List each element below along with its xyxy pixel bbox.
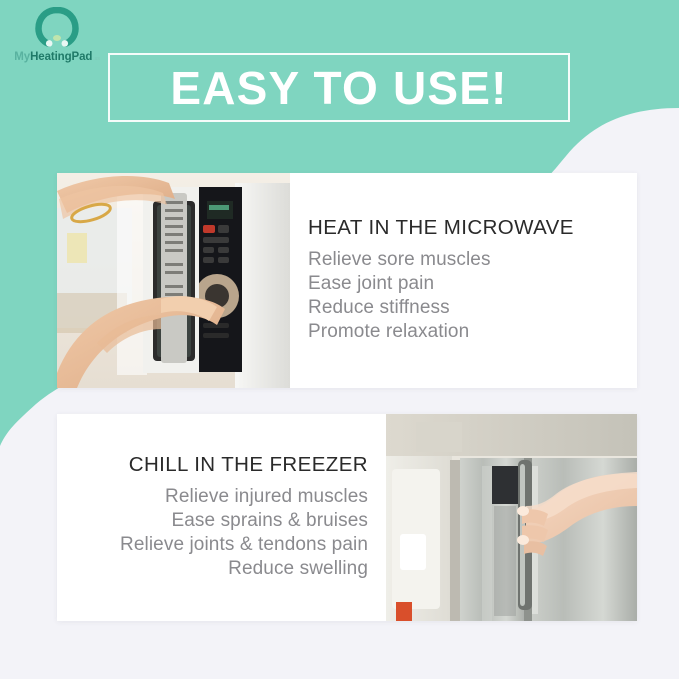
heat-card-body: HEAT IN THE MICROWAVE Relieve sore muscl… bbox=[290, 173, 637, 388]
list-item: Reduce swelling bbox=[120, 558, 368, 581]
heat-card-benefit-list: Relieve sore muscles Ease joint pain Red… bbox=[308, 248, 491, 344]
list-item: Promote relaxation bbox=[308, 321, 491, 344]
list-item: Relieve sore muscles bbox=[308, 249, 491, 272]
list-item: Ease joint pain bbox=[308, 273, 491, 296]
brand-suffix: .us bbox=[93, 56, 99, 62]
chill-card: CHILL IN THE FREEZER Relieve injured mus… bbox=[57, 414, 637, 621]
headline-banner: EASY TO USE! bbox=[108, 53, 570, 122]
heat-card: HEAT IN THE MICROWAVE Relieve sore muscl… bbox=[57, 173, 637, 388]
chill-card-heading: CHILL IN THE FREEZER bbox=[129, 454, 368, 477]
chill-card-body: CHILL IN THE FREEZER Relieve injured mus… bbox=[57, 414, 386, 621]
list-item: Reduce stiffness bbox=[308, 297, 491, 320]
list-item: Relieve joints & tendons pain bbox=[120, 534, 368, 557]
brand-name-part1: My bbox=[14, 51, 30, 63]
freezer-photo bbox=[386, 414, 637, 621]
brand-name-part2: Heating bbox=[30, 51, 71, 63]
infographic-canvas: MyHeatingPad.us EASY TO USE! bbox=[0, 0, 679, 679]
brand-logo[interactable]: MyHeatingPad.us bbox=[8, 6, 106, 68]
headline-title: EASY TO USE! bbox=[170, 65, 507, 111]
brand-name-part3: Pad bbox=[72, 51, 93, 63]
heat-card-heading: HEAT IN THE MICROWAVE bbox=[308, 217, 574, 240]
chill-card-benefit-list: Relieve injured muscles Ease sprains & b… bbox=[120, 485, 368, 581]
list-item: Relieve injured muscles bbox=[120, 486, 368, 509]
microwave-photo bbox=[57, 173, 290, 388]
list-item: Ease sprains & bruises bbox=[120, 510, 368, 533]
horseshoe-ring-icon bbox=[35, 7, 79, 49]
brand-wordmark: MyHeatingPad.us bbox=[14, 51, 99, 63]
